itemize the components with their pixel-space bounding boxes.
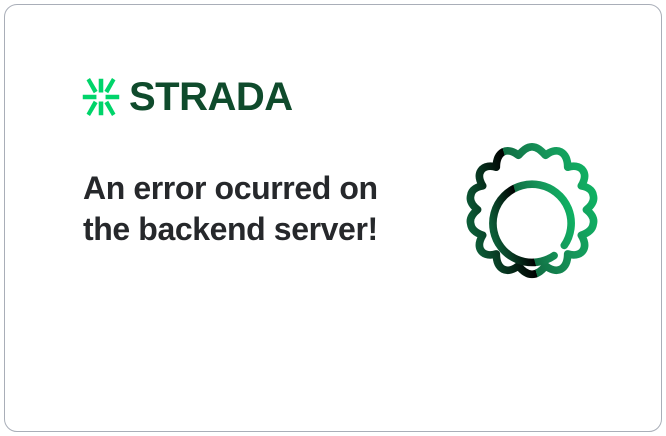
error-card: STRADA An error ocurred on the backend s…	[4, 4, 662, 432]
error-message: An error ocurred on the backend server!	[83, 168, 383, 250]
gear-cog-icon	[447, 139, 617, 311]
brand-logo: STRADA	[82, 75, 293, 119]
asterisk-star-icon	[82, 78, 120, 116]
brand-wordmark: STRADA	[129, 77, 293, 117]
page-root: STRADA An error ocurred on the backend s…	[0, 0, 666, 436]
